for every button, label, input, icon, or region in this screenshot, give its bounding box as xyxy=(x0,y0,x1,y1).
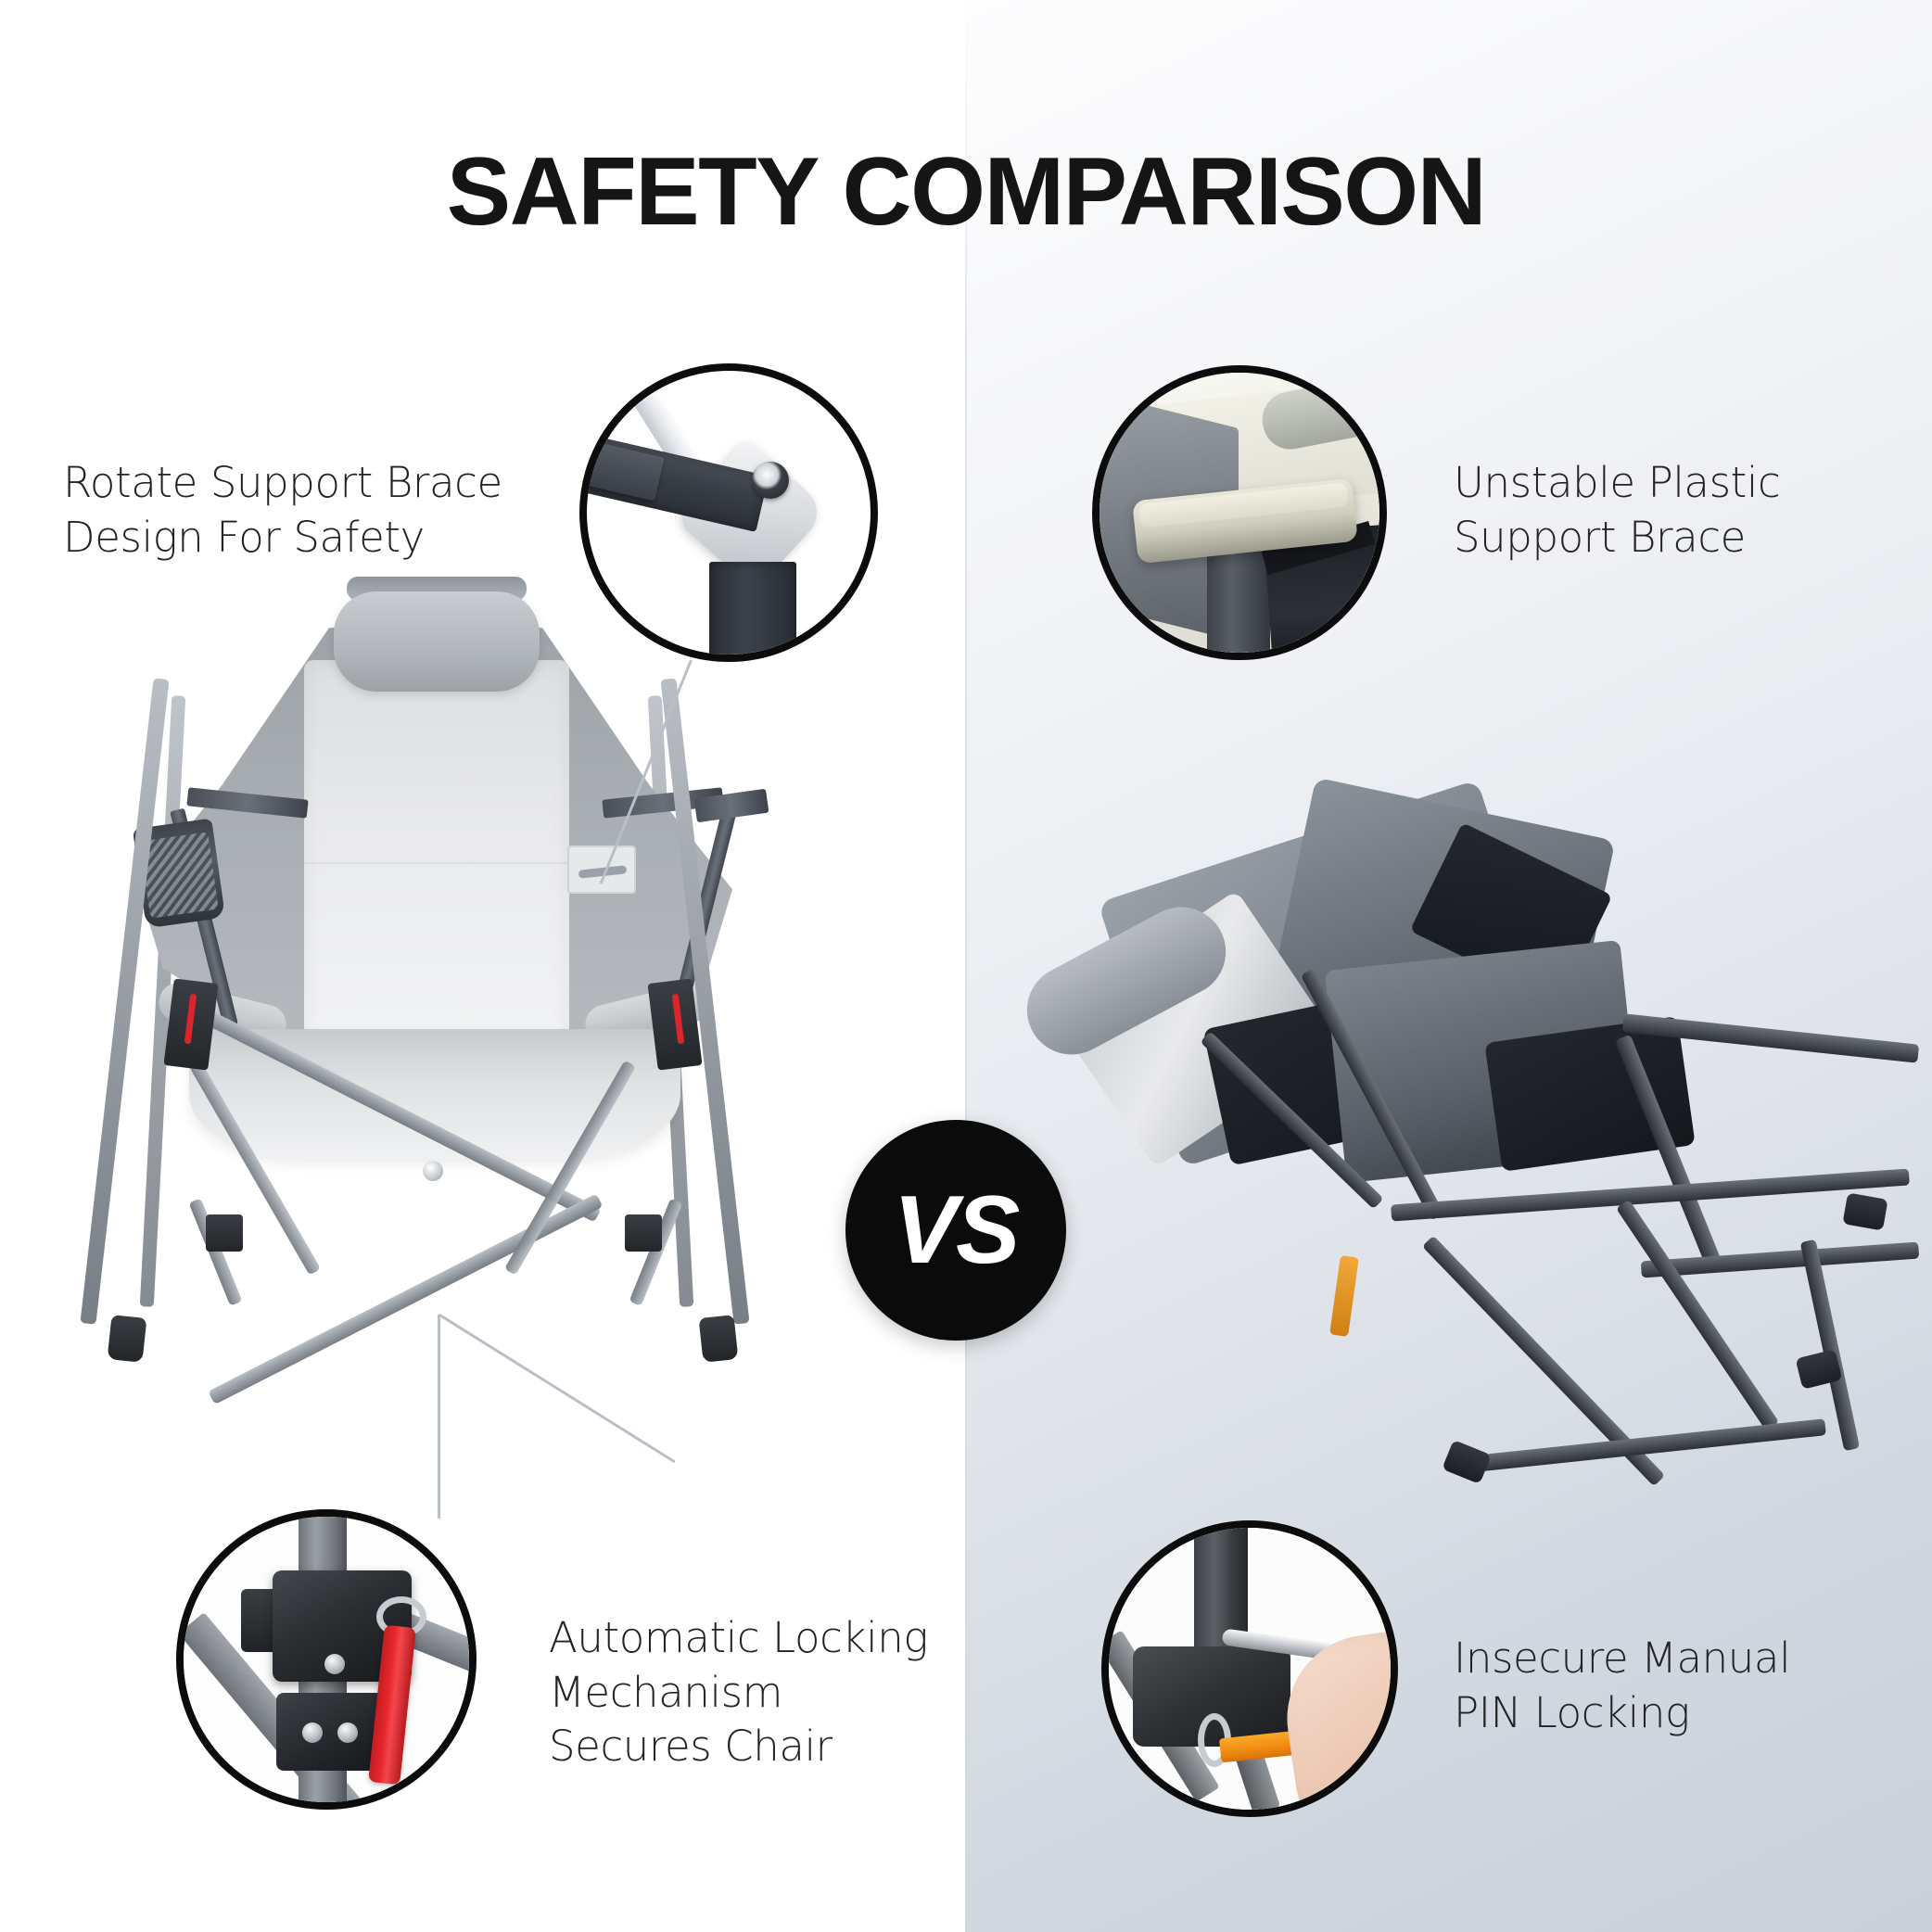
chair-seat-assembly xyxy=(139,575,732,1131)
callout-label-automatic-locking: Automatic Locking Mechanism Secures Chai… xyxy=(549,1611,957,1774)
inset-unstable-plastic-brace[interactable] xyxy=(1092,365,1387,660)
hinge-bolt-icon xyxy=(752,462,789,499)
collapsed-foot-a xyxy=(1842,1192,1888,1230)
frame-center-pivot xyxy=(423,1161,443,1181)
beige-plastic-cap-webbing-closeup-icon xyxy=(1099,373,1379,653)
clamp-screw-upper-icon xyxy=(324,1654,345,1674)
collapsed-frame-bar-3 xyxy=(1641,1242,1920,1278)
collapsed-foot-c xyxy=(1442,1440,1492,1484)
infographic-canvas: SAFETY COMPARISON xyxy=(0,0,1932,1932)
frame-foot-left xyxy=(108,1315,147,1363)
webbing-strap-metal-hinge-closeup-icon xyxy=(587,371,871,655)
page-title: SAFETY COMPARISON xyxy=(0,137,1932,248)
frame-joint-bottom-left xyxy=(206,1214,243,1252)
clamp-screw-lower-right-icon xyxy=(337,1722,358,1743)
inset-automatic-locking-mechanism[interactable] xyxy=(176,1509,477,1810)
brand-logo-label xyxy=(567,845,636,894)
frame-foot-right xyxy=(699,1315,739,1363)
inset-rotate-support-brace[interactable] xyxy=(579,363,878,662)
black-clamp-red-pull-strap-closeup-icon xyxy=(184,1517,469,1802)
vs-badge: VS xyxy=(845,1120,1066,1341)
product-image-collapsed-chair xyxy=(1029,797,1900,1502)
callout-label-unstable-plastic-brace: Unstable Plastic Support Brace xyxy=(1454,456,1889,565)
inset-insecure-manual-pin-locking[interactable] xyxy=(1101,1520,1398,1817)
frame-joint-bottom-right xyxy=(625,1214,662,1252)
leader-line-bottom-left-vertical xyxy=(438,1315,440,1519)
clamp-screw-lower-left-icon xyxy=(302,1722,323,1743)
headrest-pillow xyxy=(334,591,540,692)
product-image-swing-chair xyxy=(37,575,834,1622)
vs-badge-label: VS xyxy=(894,1176,1019,1286)
collapsed-frame-bar-4 xyxy=(1391,1168,1910,1221)
collapsed-orange-strap xyxy=(1329,1255,1359,1337)
lower-webbing-strap-icon xyxy=(709,562,796,662)
panel-divider xyxy=(965,0,967,1932)
hand-holding-pin-orange-strap-closeup-icon xyxy=(1109,1528,1391,1810)
callout-label-rotate-support-brace: Rotate Support Brace Design For Safety xyxy=(63,456,545,565)
callout-label-insecure-manual-pin: Insecure Manual PIN Locking xyxy=(1454,1632,1871,1740)
